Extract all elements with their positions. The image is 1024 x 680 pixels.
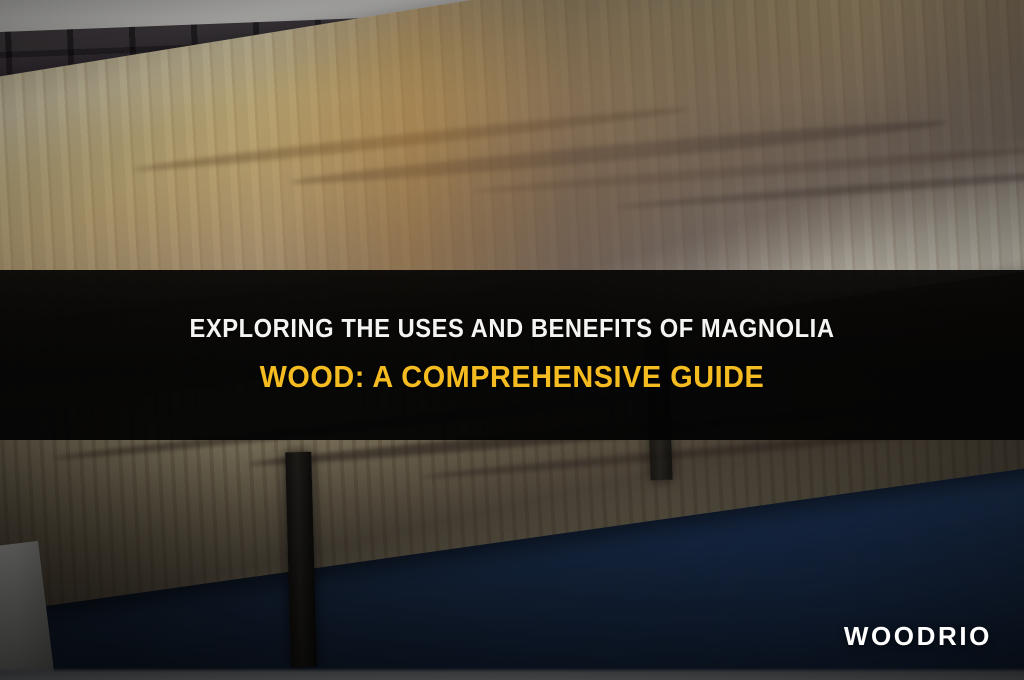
- wood-grain-streak: [133, 104, 690, 176]
- woodrio-watermark-logo: WOODRIO: [844, 621, 992, 652]
- bottom-floor-strip: [0, 668, 1024, 680]
- wood-grain-streak: [289, 114, 948, 190]
- hero-title-line-1: EXPLORING THE USES AND BENEFITS OF MAGNO…: [36, 313, 988, 346]
- article-hero-banner: EXPLORING THE USES AND BENEFITS OF MAGNO…: [0, 0, 1024, 680]
- hero-title-line-2: WOOD: A COMPREHENSIVE GUIDE: [36, 357, 988, 397]
- wood-grain-streak: [472, 143, 1024, 197]
- wood-grain-streak: [616, 165, 1024, 211]
- title-overlay-band: EXPLORING THE USES AND BENEFITS OF MAGNO…: [0, 270, 1024, 440]
